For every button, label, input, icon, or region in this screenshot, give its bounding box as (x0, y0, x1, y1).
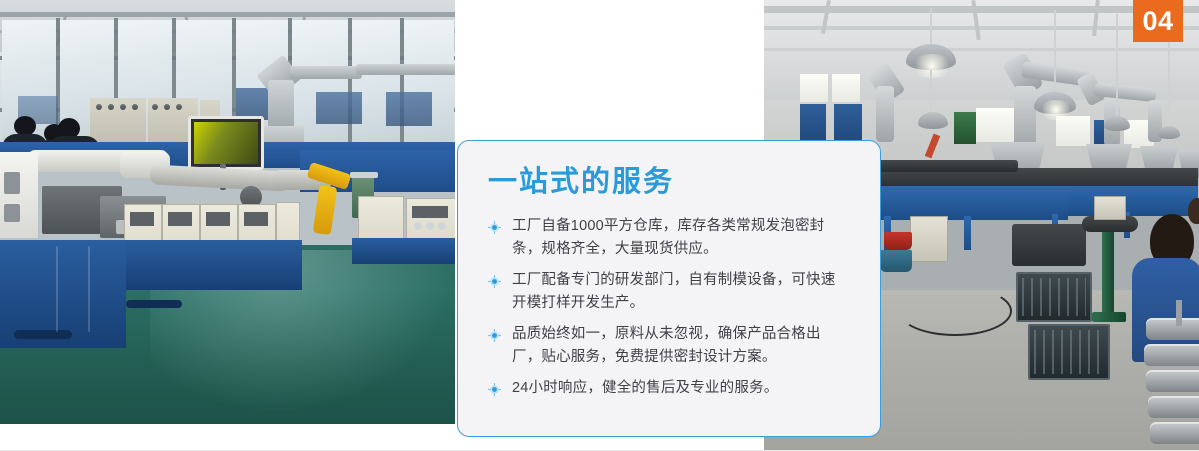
factory-extrusion-line-photo (0, 0, 455, 424)
target-dot-icon (488, 329, 501, 342)
list-item-text: 工厂自备1000平方仓库，库存各类常规发泡密封条，规格齐全，大量现货供应。 (512, 218, 824, 257)
list-item-text: 工厂配备专门的研发部门，自有制模设备，可快速开模打样开发生产。 (512, 272, 835, 311)
card-title: 一站式的服务 (488, 167, 850, 199)
banner-stage: 04 一站式的服务 工厂自备1000平方仓库，库存各类常规发泡密封条，规格齐全，… (0, 0, 1199, 451)
list-item: 工厂自备1000平方仓库，库存各类常规发泡密封条，规格齐全，大量现货供应。 (488, 215, 850, 262)
step-number-label: 04 (1142, 8, 1173, 35)
list-item-text: 24小时响应，健全的售后及专业的服务。 (512, 380, 778, 396)
list-item: 品质始终如一，原料从未忽视，确保产品合格出厂，贴心服务，免费提供密封设计方案。 (488, 323, 850, 370)
list-item: 工厂配备专门的研发部门，自有制模设备，可快速开模打样开发生产。 (488, 269, 850, 316)
target-dot-icon (488, 383, 501, 396)
target-dot-icon (488, 221, 501, 234)
list-item-text: 品质始终如一，原料从未忽视，确保产品合格出厂，贴心服务，免费提供密封设计方案。 (512, 326, 821, 365)
service-bullet-list: 工厂自备1000平方仓库，库存各类常规发泡密封条，规格齐全，大量现货供应。 工厂… (488, 215, 850, 400)
list-item: 24小时响应，健全的售后及专业的服务。 (488, 377, 850, 400)
target-dot-icon (488, 275, 501, 288)
step-number-badge: 04 (1133, 0, 1183, 42)
service-info-card: 一站式的服务 工厂自备1000平方仓库，库存各类常规发泡密封条，规格齐全，大量现… (457, 140, 881, 437)
